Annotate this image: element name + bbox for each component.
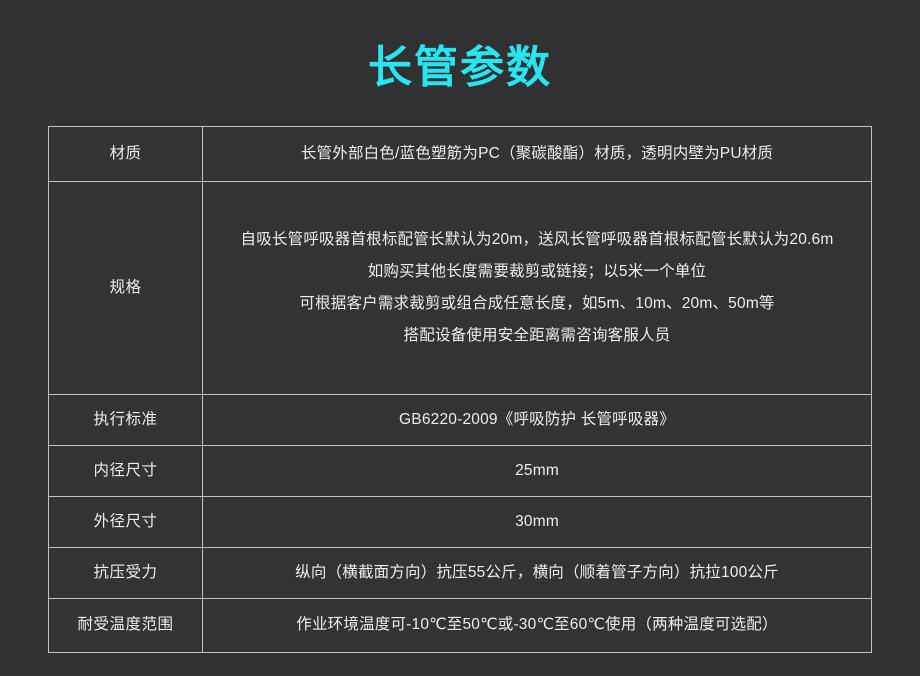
specification-line-2: 如购买其他长度需要裁剪或链接；以5米一个单位: [211, 260, 863, 284]
row-value-temperature-range: 作业环境温度可-10℃至50℃或-30℃至60℃使用（两种温度可选配）: [203, 599, 872, 653]
row-value-material: 长管外部白色/蓝色塑筋为PC（聚碳酸酯）材质，透明内壁为PU材质: [203, 127, 872, 182]
table-row: 耐受温度范围 作业环境温度可-10℃至50℃或-30℃至60℃使用（两种温度可选…: [49, 599, 872, 653]
row-label-outer-diameter: 外径尺寸: [49, 497, 203, 548]
specification-line-4: 搭配设备使用安全距离需咨询客服人员: [211, 324, 863, 348]
row-label-inner-diameter: 内径尺寸: [49, 446, 203, 497]
row-label-specification: 规格: [49, 182, 203, 395]
specification-table: 材质 长管外部白色/蓝色塑筋为PC（聚碳酸酯）材质，透明内壁为PU材质 规格 自…: [48, 126, 872, 653]
table-row: 外径尺寸 30mm: [49, 497, 872, 548]
row-label-standard: 执行标准: [49, 395, 203, 446]
table-row: 规格 自吸长管呼吸器首根标配管长默认为20m，送风长管呼吸器首根标配管长默认为2…: [49, 182, 872, 395]
row-label-temperature-range: 耐受温度范围: [49, 599, 203, 653]
table-row: 抗压受力 纵向（横截面方向）抗压55公斤，横向（顺着管子方向）抗拉100公斤: [49, 548, 872, 599]
table-row: 材质 长管外部白色/蓝色塑筋为PC（聚碳酸酯）材质，透明内壁为PU材质: [49, 127, 872, 182]
row-value-standard: GB6220-2009《呼吸防护 长管呼吸器》: [203, 395, 872, 446]
table-row: 内径尺寸 25mm: [49, 446, 872, 497]
row-value-outer-diameter: 30mm: [203, 497, 872, 548]
row-value-inner-diameter: 25mm: [203, 446, 872, 497]
specification-table-body: 材质 长管外部白色/蓝色塑筋为PC（聚碳酸酯）材质，透明内壁为PU材质 规格 自…: [49, 127, 872, 653]
specification-line-3: 可根据客户需求裁剪或组合成任意长度，如5m、10m、20m、50m等: [211, 292, 863, 316]
page-title: 长管参数: [0, 42, 920, 95]
table-row: 执行标准 GB6220-2009《呼吸防护 长管呼吸器》: [49, 395, 872, 446]
row-value-specification: 自吸长管呼吸器首根标配管长默认为20m，送风长管呼吸器首根标配管长默认为20.6…: [203, 182, 872, 395]
row-value-pressure-resistance: 纵向（横截面方向）抗压55公斤，横向（顺着管子方向）抗拉100公斤: [203, 548, 872, 599]
specification-lines: 自吸长管呼吸器首根标配管长默认为20m，送风长管呼吸器首根标配管长默认为20.6…: [211, 228, 863, 348]
specification-line-1: 自吸长管呼吸器首根标配管长默认为20m，送风长管呼吸器首根标配管长默认为20.6…: [211, 228, 863, 252]
product-spec-page: 长管参数 材质 长管外部白色/蓝色塑筋为PC（聚碳酸酯）材质，透明内壁为PU材质…: [0, 0, 920, 676]
row-label-material: 材质: [49, 127, 203, 182]
row-label-pressure-resistance: 抗压受力: [49, 548, 203, 599]
